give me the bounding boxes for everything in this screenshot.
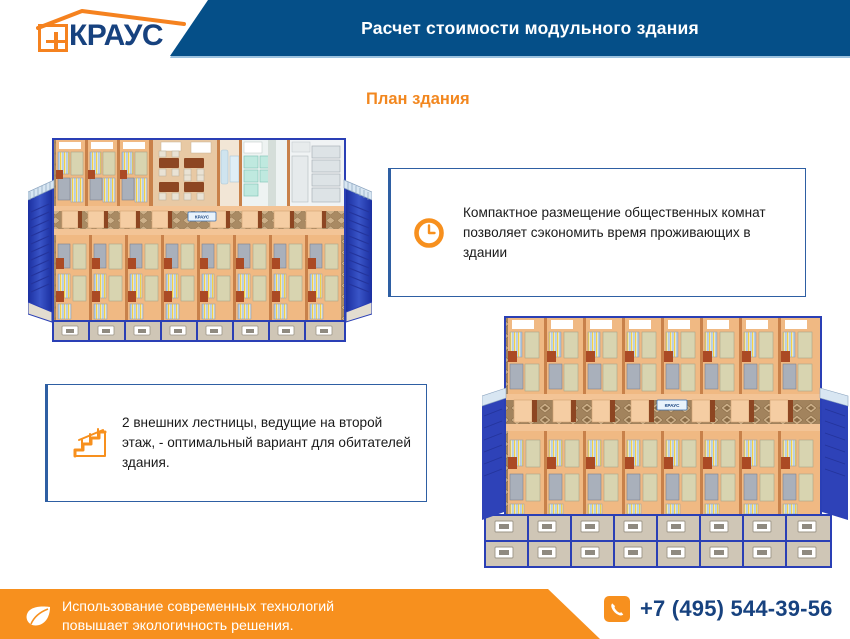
leaf-icon (24, 604, 54, 628)
phone-icon (604, 596, 630, 622)
svg-text:КРАУС: КРАУС (195, 215, 210, 220)
footer-eco-line-2: повышает экологичность решения. (62, 617, 462, 636)
building-plan-side-view: КРАУС (482, 306, 850, 572)
clock-icon (401, 218, 457, 248)
external-staircase-left-stub (482, 388, 506, 520)
stairs-icon (62, 426, 118, 460)
page-title: Расчет стоимости модульного здания (220, 0, 840, 56)
callout-text: 2 внешних лестницы, ведущие на второй эт… (118, 413, 426, 473)
footer-eco-line-1: Использование современных технологий (62, 598, 462, 617)
footer-eco-text: Использование современных технологий пов… (62, 598, 462, 635)
building-plan-top-view: КРАУС (28, 126, 372, 344)
svg-text:КРАУС: КРАУС (665, 403, 680, 408)
footer-phone-block[interactable]: +7 (495) 544-39-56 (604, 596, 833, 622)
plus-box-icon (38, 24, 68, 52)
header: КРАУС Расчет стоимости модульного здания (0, 0, 850, 60)
phone-number[interactable]: +7 (495) 544-39-56 (640, 596, 833, 622)
external-staircase-right (344, 180, 372, 322)
external-staircase-left (28, 180, 54, 322)
section-title: План здания (366, 90, 470, 109)
brand-name: КРАУС (69, 20, 163, 52)
brand-logo[interactable]: КРАУС (36, 8, 186, 54)
callout-compact-layout: Компактное размещение общественных комна… (388, 168, 806, 297)
callout-text: Компактное размещение общественных комна… (457, 203, 805, 263)
external-staircase-right-stub (820, 388, 848, 520)
callout-external-stairs: 2 внешних лестницы, ведущие на второй эт… (45, 384, 427, 502)
header-banner-underline (170, 56, 850, 58)
